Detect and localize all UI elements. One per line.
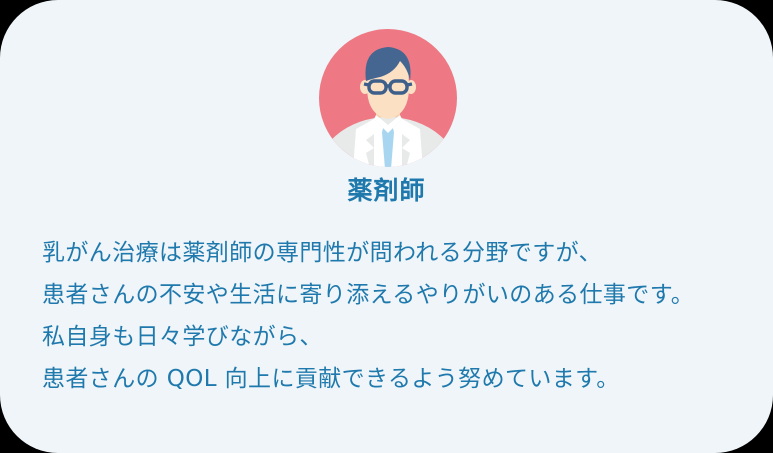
testimonial-message: 乳がん治療は薬剤師の専門性が問われる分野ですが、 患者さんの不安や生活に寄り添え… — [42, 232, 742, 400]
message-line: 患者さんの QOL 向上に貢献できるよう努めています。 — [42, 358, 742, 400]
message-line: 私自身も日々学びながら、 — [42, 316, 742, 358]
pharmacist-testimonial-card: 薬剤師 乳がん治療は薬剤師の専門性が問われる分野ですが、 患者さんの不安や生活に… — [0, 0, 773, 453]
pharmacist-avatar-icon — [316, 29, 460, 167]
avatar — [316, 29, 460, 167]
role-title: 薬剤師 — [0, 176, 773, 206]
message-line: 患者さんの不安や生活に寄り添えるやりがいのある仕事です。 — [42, 274, 742, 316]
message-line: 乳がん治療は薬剤師の専門性が問われる分野ですが、 — [42, 232, 742, 274]
